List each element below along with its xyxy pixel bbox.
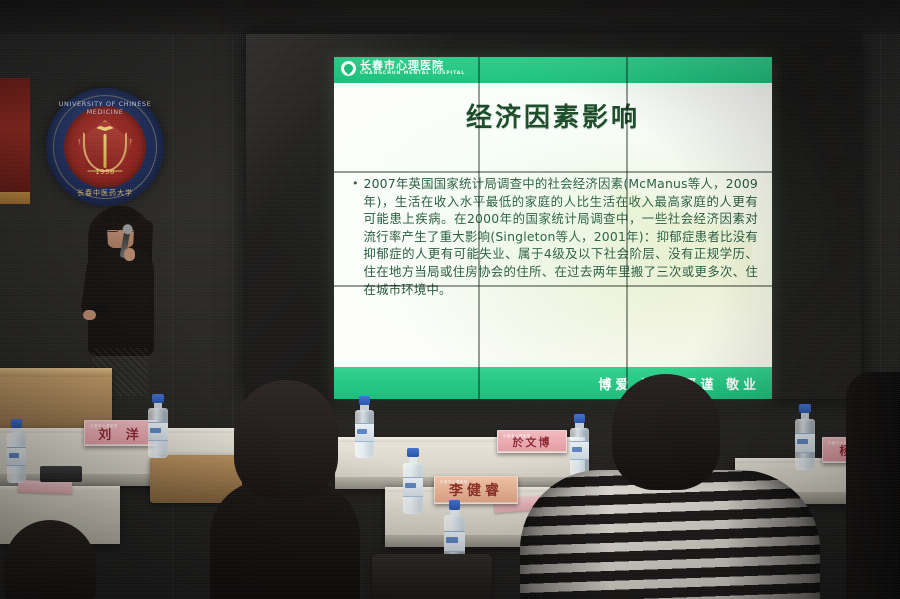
name-card-subtitle: 长春市心理医院 xyxy=(440,479,468,484)
audience-body xyxy=(846,372,900,599)
wall-banner xyxy=(0,78,30,204)
lectern-top xyxy=(0,368,112,377)
slide-body-text: 2007年英国国家统计局调查中的社会经济因素(McManus等人，2009年)，… xyxy=(364,175,759,298)
panel-seam-horizontal xyxy=(334,285,772,287)
water-bottle xyxy=(403,448,423,514)
emblem-english-text: UNIVERSITY OF CHINESE MEDICINE xyxy=(46,100,164,116)
audience-member xyxy=(520,374,820,599)
water-bottle xyxy=(148,394,168,458)
slide-body: 经济因素影响 • 2007年英国国家统计局调查中的社会经济因素(McManus等… xyxy=(334,83,772,367)
slide-title: 经济因素影响 xyxy=(334,97,772,134)
audience-head xyxy=(612,374,720,490)
audience-member xyxy=(210,380,360,599)
video-wall: 长春市心理医院 CHANGCHUN MENTAL HOSPITAL 经济因素影响… xyxy=(245,33,862,400)
audience-member xyxy=(0,520,114,599)
presenter-right-hand xyxy=(124,248,135,261)
emblem-year: 1958 xyxy=(46,168,164,176)
presentation-slide: 长春市心理医院 CHANGCHUN MENTAL HOSPITAL 经济因素影响… xyxy=(334,57,772,399)
emblem-rod-icon xyxy=(104,134,107,168)
hospital-name-en: CHANGCHUN MENTAL HOSPITAL xyxy=(360,72,465,77)
presenter xyxy=(78,196,164,396)
audience-head xyxy=(4,520,96,599)
presenter-left-hand xyxy=(83,310,96,320)
wall-seam xyxy=(172,0,173,599)
panel-seam-horizontal xyxy=(334,171,772,173)
hospital-logo: 长春市心理医院 CHANGCHUN MENTAL HOSPITAL xyxy=(341,60,465,77)
bullet-dot-icon: • xyxy=(352,175,359,192)
audience-head xyxy=(234,380,338,498)
slide-header-band: 长春市心理医院 CHANGCHUN MENTAL HOSPITAL xyxy=(334,57,772,83)
name-card-subtitle: 长春市心理医院 xyxy=(90,423,118,428)
wall-upper-band xyxy=(0,0,900,34)
panel-seam-vertical xyxy=(478,57,480,399)
slide-bullet-item: • 2007年英国国家统计局调查中的社会经济因素(McManus等人，2009年… xyxy=(352,175,758,298)
water-bottle xyxy=(7,419,26,483)
hospital-name-cn: 长春市心理医院 xyxy=(360,60,465,71)
panel-seam-vertical xyxy=(626,57,628,399)
lecture-hall-photo: UNIVERSITY OF CHINESE MEDICINE 1958 长春中医… xyxy=(0,0,900,599)
audience-member xyxy=(846,372,900,599)
heart-leaf-icon xyxy=(341,61,356,76)
name-card: 长春市心理医院 刘 洋 xyxy=(84,420,158,446)
desk-device xyxy=(40,466,82,482)
emblem-chinese-text: 长春中医药大学 xyxy=(46,188,164,198)
university-emblem: UNIVERSITY OF CHINESE MEDICINE 1958 长春中医… xyxy=(46,88,164,206)
chair xyxy=(372,554,492,599)
name-card-stand xyxy=(84,444,158,446)
